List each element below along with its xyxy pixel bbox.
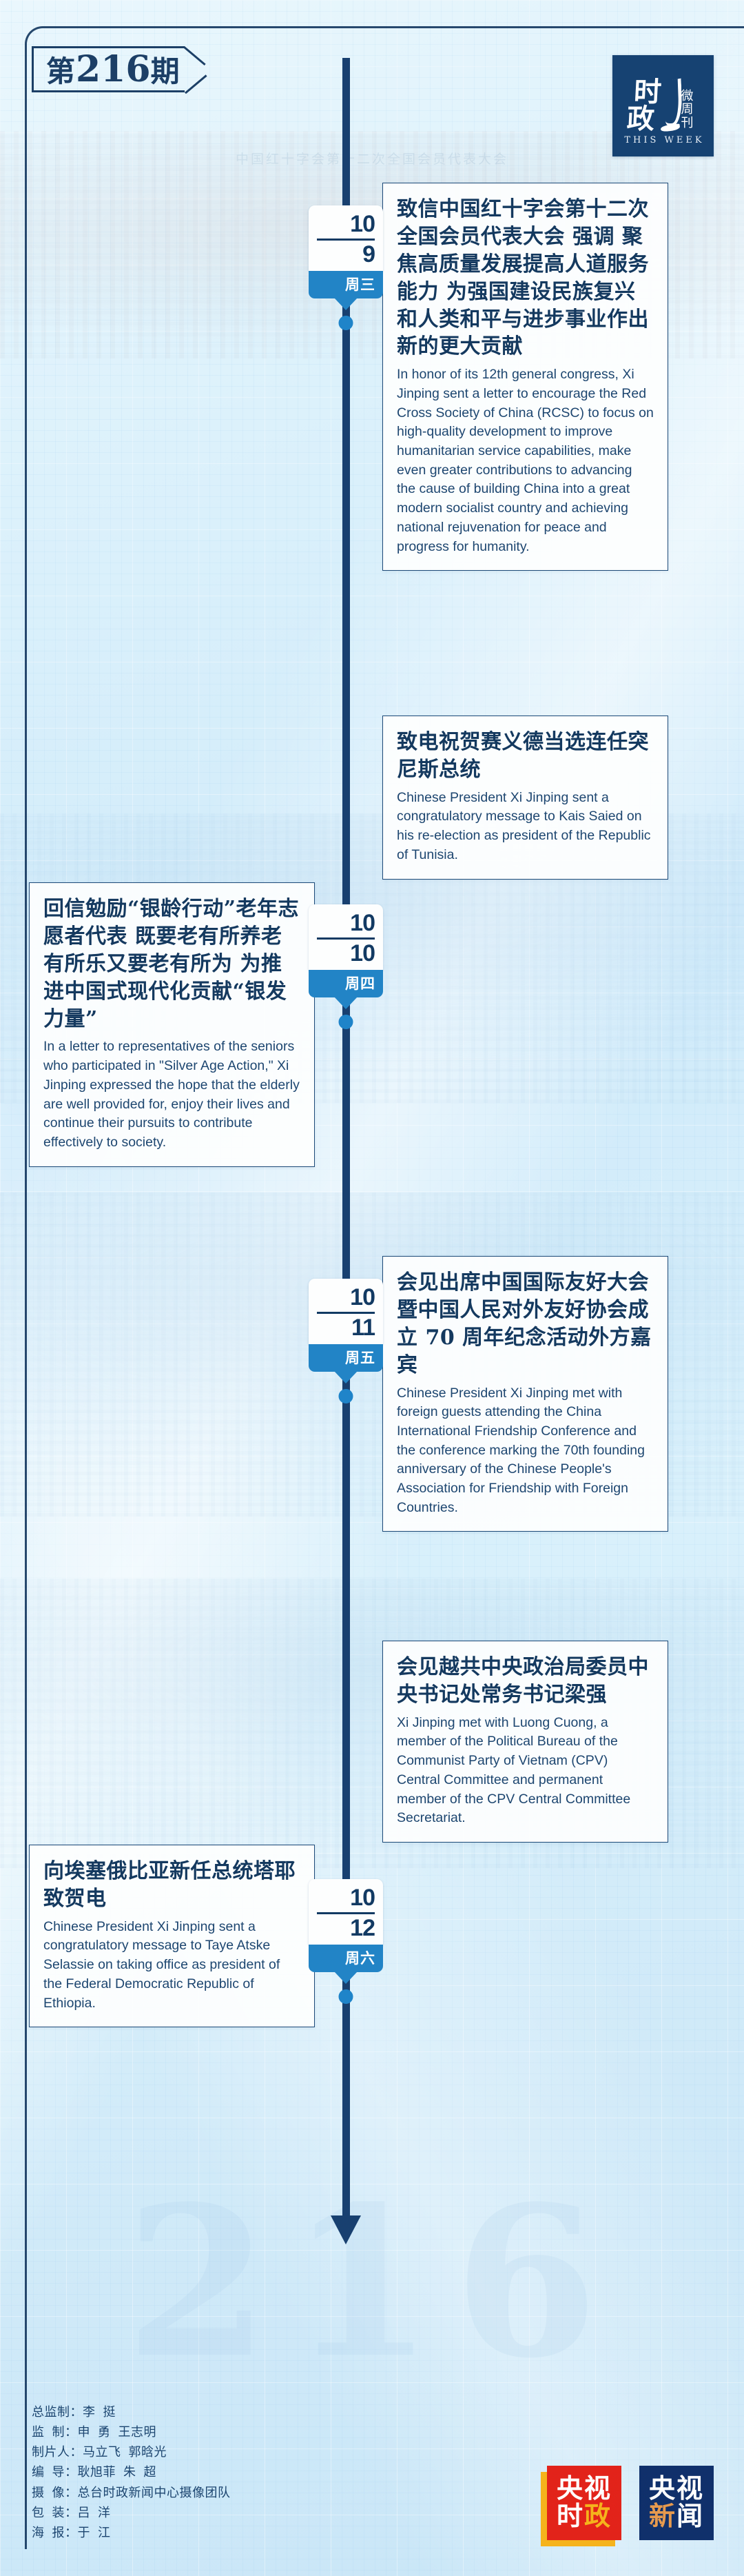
logo-cctv-shizheng-line1: 央视: [557, 2475, 612, 2503]
event-card-cn-title: 回信勉励“银龄行动”老年志愿者代表 既要老有所养老有所乐又要老有所为 为推进中国…: [43, 895, 300, 1033]
date-day: 10: [317, 942, 375, 966]
date-marker-10-10[interactable]: 10 10 周四: [309, 904, 383, 997]
date-weekday: 周六: [309, 1945, 383, 1972]
credit-line-packaging: 包 装：吕 洋: [32, 2503, 231, 2523]
brand-logo-main-characters: 时 政: [631, 79, 661, 132]
date-divider: [317, 1312, 375, 1314]
event-card-red-cross[interactable]: 致信中国红十字会第十二次全国会员代表大会 强调 聚焦高质量发展提高人道服务能力 …: [382, 183, 668, 571]
issue-badge: 第216期: [32, 46, 185, 92]
brand-logo-sub-2: 周: [681, 103, 694, 116]
event-card-vietnam[interactable]: 会见越共中央政治局委员中央书记处常务书记梁强 Xi Jinping met wi…: [382, 1641, 668, 1843]
timeline-node-dot: [339, 316, 353, 330]
credit-line-director: 编 导：耿旭菲 朱 超: [32, 2462, 231, 2482]
event-card-cn-title: 向埃塞俄比亚新任总统塔耶致贺电: [43, 1858, 300, 1913]
issue-number: 216: [76, 48, 151, 90]
logo-cctv-xinwen-line1: 央视: [649, 2475, 704, 2503]
event-card-cn-title: 会见越共中央政治局委员中央书记处常务书记梁强: [397, 1654, 654, 1709]
date-box: 10 11: [309, 1279, 383, 1344]
credit-line-producer: 监 制：申 勇 王志明: [32, 2422, 231, 2442]
date-marker-10-12[interactable]: 10 12 周六: [309, 1879, 383, 1972]
event-card-friendship-conference[interactable]: 会见出席中国国际友好大会暨中国人民对外友好协会成立 70 周年纪念活动外方嘉宾 …: [382, 1256, 668, 1532]
event-card-en-body: In honor of its 12th general congress, X…: [397, 365, 654, 556]
credit-line-chief-producer: 总监制：李 挺: [32, 2402, 231, 2422]
date-day: 11: [317, 1316, 375, 1340]
footer-logos: 央视 时政 央视 新闻: [547, 2466, 714, 2540]
bottom-watermark: 216: [0, 2160, 744, 2404]
brand-logo: 时 政 微 周 刊 THIS WEEK: [612, 55, 714, 156]
timeline-arrow-icon: [331, 2215, 361, 2244]
date-marker-tail-icon: [334, 298, 358, 310]
logo-cctv-shizheng[interactable]: 央视 时政: [547, 2466, 621, 2540]
timeline-node-dot: [339, 1015, 353, 1029]
date-box: 10 10: [309, 904, 383, 970]
credit-line-poster: 海 报：于 江: [32, 2523, 231, 2543]
date-marker-tail-icon: [334, 1371, 358, 1383]
event-card-en-body: Chinese President Xi Jinping met with fo…: [397, 1384, 654, 1518]
event-card-en-body: Chinese President Xi Jinping sent a cong…: [397, 789, 654, 865]
date-month: 10: [317, 911, 375, 935]
event-card-cn-title: 致电祝贺赛义德当选连任突尼斯总统: [397, 729, 654, 784]
date-divider: [317, 1912, 375, 1914]
brand-logo-sub-1: 微: [681, 90, 694, 103]
logo-cctv-xinwen[interactable]: 央视 新闻: [639, 2466, 714, 2540]
event-card-cn-title: 致信中国红十字会第十二次全国会员代表大会 强调 聚焦高质量发展提高人道服务能力 …: [397, 196, 654, 361]
credit-line-film-producer: 制片人：马立飞 郭晗光: [32, 2442, 231, 2462]
date-month: 10: [317, 1286, 375, 1310]
date-divider: [317, 937, 375, 940]
logo-char-xin: 新: [649, 2502, 676, 2531]
date-month: 10: [317, 212, 375, 236]
event-card-en-body: Chinese President Xi Jinping sent a cong…: [43, 1918, 300, 2013]
date-box: 10 12: [309, 1879, 383, 1945]
event-card-tunisia[interactable]: 致电祝贺赛义德当选连任突尼斯总统 Chinese President Xi Ji…: [382, 716, 668, 880]
credit-line-camera: 摄 像：总台时政新闻中心摄像团队: [32, 2483, 231, 2503]
date-weekday: 周三: [309, 271, 383, 298]
event-card-ethiopia[interactable]: 向埃塞俄比亚新任总统塔耶致贺电 Chinese President Xi Jin…: [29, 1845, 315, 2027]
brand-swoosh-icon: [662, 73, 680, 132]
date-day: 9: [317, 243, 375, 267]
issue-badge-text: 第216期: [34, 48, 180, 90]
brand-logo-char-2: 政: [626, 105, 660, 132]
date-month: 10: [317, 1886, 375, 1910]
logo-char-shi: 时: [557, 2502, 584, 2531]
timeline-node-dot: [339, 1989, 353, 2004]
date-marker-tail-icon: [334, 1971, 358, 1984]
event-card-silver-age-action[interactable]: 回信勉励“银龄行动”老年志愿者代表 既要老有所养老有所乐又要老有所为 为推进中国…: [29, 882, 315, 1167]
date-marker-10-9[interactable]: 10 9 周三: [309, 205, 383, 298]
brand-logo-sub-characters: 微 周 刊: [681, 90, 694, 132]
date-day: 12: [317, 1916, 375, 1940]
date-marker-10-11[interactable]: 10 11 周五: [309, 1279, 383, 1372]
logo-cctv-xinwen-line2: 新闻: [649, 2503, 704, 2531]
date-marker-tail-icon: [334, 997, 358, 1009]
brand-logo-char-1: 时: [633, 79, 662, 105]
brand-logo-row: 时 政 微 周 刊: [633, 66, 694, 132]
date-box: 10 9: [309, 205, 383, 271]
date-weekday: 周四: [309, 970, 383, 997]
brand-logo-sub-3: 刊: [681, 116, 694, 130]
footer-credits: 总监制：李 挺 监 制：申 勇 王志明 制片人：马立飞 郭晗光 编 导：耿旭菲 …: [32, 2402, 231, 2543]
event-card-cn-title: 会见出席中国国际友好大会暨中国人民对外友好协会成立 70 周年纪念活动外方嘉宾: [397, 1269, 654, 1379]
event-card-en-body: Xi Jinping met with Luong Cuong, a membe…: [397, 1714, 654, 1828]
logo-char-zheng: 政: [584, 2502, 612, 2531]
logo-char-wen: 闻: [676, 2502, 704, 2531]
poster-canvas: 中国红十字会第十二次全国会员代表大会 216 第216期 时 政 微 周 刊 T…: [0, 0, 744, 2576]
date-divider: [317, 239, 375, 241]
issue-prefix: 第: [46, 54, 76, 88]
logo-cctv-shizheng-line2: 时政: [557, 2503, 612, 2531]
event-card-en-body: In a letter to representatives of the se…: [43, 1037, 300, 1152]
timeline-node-dot: [339, 1389, 353, 1403]
date-weekday: 周五: [309, 1344, 383, 1372]
